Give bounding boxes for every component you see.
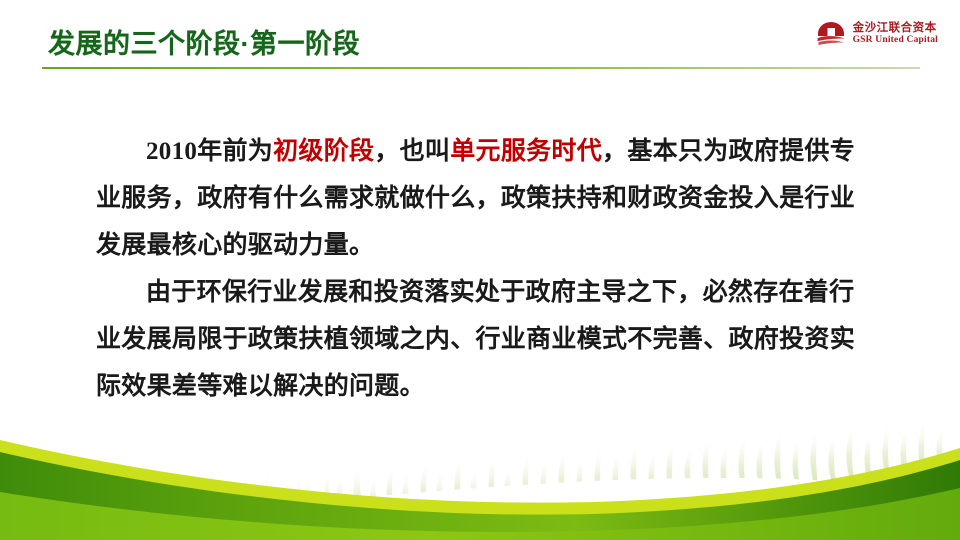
footer-grass-decoration bbox=[0, 400, 960, 540]
presentation-slide: 发展的三个阶段·第一阶段 金沙江联合资本 GSR United Capital … bbox=[0, 0, 960, 540]
p1-seg3: ，也叫 bbox=[374, 138, 450, 165]
body-paragraph-2: 由于环保行业发展和投资落实处于政府主导之下，必然存在着行业发展局限于政策扶植领域… bbox=[96, 269, 866, 410]
logo-wordmark: 金沙江联合资本 GSR United Capital bbox=[853, 22, 938, 46]
p1-seg1: 2010年前为 bbox=[146, 138, 273, 165]
p1-highlight-2: 单元服务时代 bbox=[450, 138, 602, 165]
page-title: 发展的三个阶段·第一阶段 bbox=[48, 22, 360, 61]
title-divider bbox=[42, 67, 920, 69]
body-paragraph-1: 2010年前为初级阶段，也叫单元服务时代，基本只为政府提供专业服务，政府有什么需… bbox=[96, 128, 866, 269]
p1-highlight-1: 初级阶段 bbox=[273, 138, 374, 165]
company-logo: 金沙江联合资本 GSR United Capital bbox=[815, 20, 938, 48]
slide-body: 2010年前为初级阶段，也叫单元服务时代，基本只为政府提供专业服务，政府有什么需… bbox=[96, 128, 866, 410]
gsr-emblem-icon bbox=[815, 20, 847, 48]
logo-name-en: GSR United Capital bbox=[853, 35, 938, 46]
logo-name-cn: 金沙江联合资本 bbox=[853, 22, 938, 35]
